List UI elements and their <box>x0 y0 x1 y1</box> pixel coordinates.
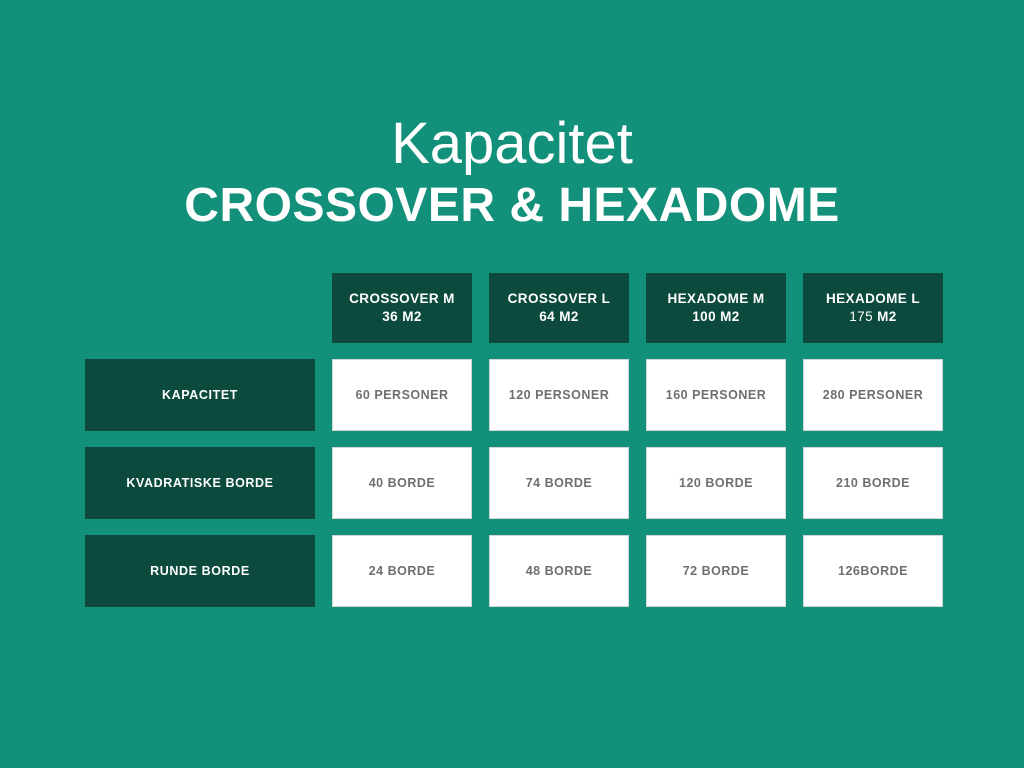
table-row: RUNDE BORDE 24 BORDE 48 BORDE 72 BORDE 1… <box>85 535 938 607</box>
cell-runde-hexadome-l: 126BORDE <box>803 535 943 607</box>
column-header-size-unit: M2 <box>877 309 897 324</box>
table-cell: 40 BORDE <box>332 447 472 519</box>
column-header-size-value: 64 <box>539 309 555 324</box>
cell-kapacitet-hexadome-l: 280 PERSONER <box>803 359 943 431</box>
slide-canvas: Kapacitet CROSSOVER & HEXADOME CROSSOVER… <box>0 0 1024 768</box>
column-header-name: CROSSOVER L <box>508 290 611 308</box>
table-row: KAPACITET 60 PERSONER 120 PERSONER 160 P… <box>85 359 938 431</box>
column-header-size: 100 M2 <box>692 308 739 326</box>
table-cell: 160 PERSONER <box>646 359 786 431</box>
table-cell: 60 PERSONER <box>332 359 472 431</box>
row-label-kapacitet: KAPACITET <box>85 359 315 431</box>
cell-kvadratiske-crossover-m: 40 BORDE <box>332 447 472 519</box>
table-cell: 120 BORDE <box>646 447 786 519</box>
cell-kvadratiske-crossover-l: 74 BORDE <box>489 447 629 519</box>
column-header-size: 175 M2 <box>849 308 896 326</box>
column-header-crossover-m: CROSSOVER M 36 M2 <box>332 273 472 343</box>
cell-kvadratiske-hexadome-l: 210 BORDE <box>803 447 943 519</box>
column-header-size: 36 M2 <box>382 308 422 326</box>
column-header-size-value: 100 <box>692 309 716 324</box>
column-header-name: HEXADOME M <box>667 290 764 308</box>
cell-runde-hexadome-m: 72 BORDE <box>646 535 786 607</box>
column-header-size-unit: M2 <box>559 309 579 324</box>
column-header-name: HEXADOME L <box>826 290 920 308</box>
table-cell: 48 BORDE <box>489 535 629 607</box>
title-block: Kapacitet CROSSOVER & HEXADOME <box>0 112 1024 234</box>
cell-kapacitet-hexadome-m: 160 PERSONER <box>646 359 786 431</box>
table-cell: 72 BORDE <box>646 535 786 607</box>
column-header-size-value: 36 <box>382 309 398 324</box>
column-header-size-unit: M2 <box>720 309 740 324</box>
cell-runde-crossover-m: 24 BORDE <box>332 535 472 607</box>
row-label-runde-borde: RUNDE BORDE <box>85 535 315 607</box>
row-label-cell: KVADRATISKE BORDE <box>85 447 315 519</box>
cell-kapacitet-crossover-l: 120 PERSONER <box>489 359 629 431</box>
table-cell: 280 PERSONER <box>803 359 943 431</box>
column-header-size-value: 175 <box>849 309 873 324</box>
column-header-hexadome-m: HEXADOME M 100 M2 <box>646 273 786 343</box>
column-header-cell: CROSSOVER M 36 M2 <box>332 273 472 343</box>
row-label-kvadratiske-borde: KVADRATISKE BORDE <box>85 447 315 519</box>
row-label-cell: RUNDE BORDE <box>85 535 315 607</box>
column-header-cell: HEXADOME M 100 M2 <box>646 273 786 343</box>
table-cell: 126BORDE <box>803 535 943 607</box>
cell-runde-crossover-l: 48 BORDE <box>489 535 629 607</box>
page-title-primary: Kapacitet <box>0 112 1024 176</box>
cell-kvadratiske-hexadome-m: 120 BORDE <box>646 447 786 519</box>
column-header-cell: CROSSOVER L 64 M2 <box>489 273 629 343</box>
capacity-table: CROSSOVER M 36 M2 CROSSOVER L 64 M2 HEXA… <box>85 273 938 607</box>
table-cell: 210 BORDE <box>803 447 943 519</box>
column-header-size: 64 M2 <box>539 308 579 326</box>
table-row: KVADRATISKE BORDE 40 BORDE 74 BORDE 120 … <box>85 447 938 519</box>
page-title-secondary: CROSSOVER & HEXADOME <box>0 178 1024 234</box>
column-header-crossover-l: CROSSOVER L 64 M2 <box>489 273 629 343</box>
row-label-cell: KAPACITET <box>85 359 315 431</box>
table-cell: 24 BORDE <box>332 535 472 607</box>
table-cell: 74 BORDE <box>489 447 629 519</box>
table-corner-cell <box>85 273 315 343</box>
column-header-hexadome-l: HEXADOME L 175 M2 <box>803 273 943 343</box>
table-header-row: CROSSOVER M 36 M2 CROSSOVER L 64 M2 HEXA… <box>85 273 938 343</box>
column-header-name: CROSSOVER M <box>349 290 455 308</box>
table-cell: 120 PERSONER <box>489 359 629 431</box>
cell-kapacitet-crossover-m: 60 PERSONER <box>332 359 472 431</box>
column-header-cell: HEXADOME L 175 M2 <box>803 273 943 343</box>
column-header-size-unit: M2 <box>402 309 422 324</box>
